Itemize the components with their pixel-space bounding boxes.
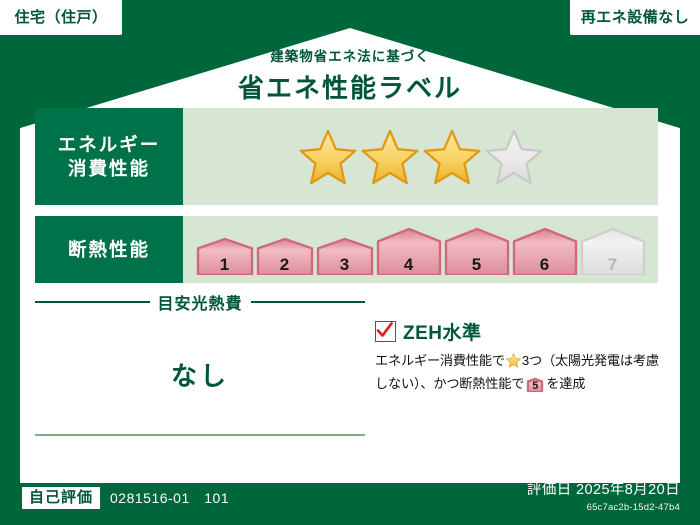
utility-cost-bottom-rule bbox=[35, 434, 365, 436]
heading-rule-right bbox=[251, 301, 366, 303]
zeh-checkbox[interactable] bbox=[375, 321, 396, 342]
zeh-block: ZEH水準 エネルギー消費性能で3つ（太陽光発電は考慮しない）、かつ断熱性能で5… bbox=[375, 318, 660, 395]
insulation-level-badge: 2 bbox=[256, 237, 314, 275]
utility-cost-value: なし bbox=[35, 356, 365, 393]
energy-performance-row: エネルギー 消費性能 bbox=[35, 108, 658, 205]
insulation-level-number: 2 bbox=[256, 256, 314, 273]
insulation-level-number: 1 bbox=[196, 256, 254, 273]
renewable-energy-tag: 再エネ設備なし bbox=[570, 0, 700, 35]
zeh-description: エネルギー消費性能で3つ（太陽光発電は考慮しない）、かつ断熱性能で5を達成 bbox=[375, 351, 660, 395]
insulation-level-badge: 1 bbox=[196, 237, 254, 275]
insulation-level-badge: 5 bbox=[444, 227, 510, 275]
inline-insulation-badge: 5 bbox=[526, 377, 544, 392]
evaluation-hash: 65c7ac2b-15d2-47b4 bbox=[527, 502, 680, 513]
insulation-performance-value: 1234567 bbox=[183, 216, 658, 283]
footer-left: 自己評価 0281516-01 101 bbox=[22, 487, 229, 509]
energy-key-line2: 消費性能 bbox=[68, 157, 150, 181]
insulation-level-number: 3 bbox=[316, 256, 374, 273]
star-rating bbox=[299, 129, 543, 185]
energy-performance-label-key: エネルギー 消費性能 bbox=[35, 108, 183, 205]
title-main: 省エネ性能ラベル bbox=[0, 68, 700, 105]
energy-performance-value bbox=[183, 108, 658, 205]
insulation-level-scale: 1234567 bbox=[196, 216, 646, 283]
insulation-level-number: 7 bbox=[580, 256, 646, 273]
zeh-title-row: ZEH水準 bbox=[375, 318, 660, 345]
certificate-code: 0281516-01 101 bbox=[110, 488, 229, 508]
zeh-desc-part1: エネルギー消費性能で bbox=[375, 353, 505, 368]
insulation-level-badge: 6 bbox=[512, 227, 578, 275]
footer-right: 評価日 2025年8月20日 65c7ac2b-15d2-47b4 bbox=[527, 478, 680, 513]
insulation-level-badge: 3 bbox=[316, 237, 374, 275]
insulation-level-number: 5 bbox=[444, 256, 510, 273]
insulation-level-badge: 7 bbox=[580, 227, 646, 275]
heading-rule-left bbox=[35, 301, 150, 303]
zeh-title: ZEH水準 bbox=[403, 318, 482, 345]
insulation-key-line1: 断熱性能 bbox=[68, 238, 150, 262]
insulation-level-number: 6 bbox=[512, 256, 578, 273]
zeh-desc-part3: を達成 bbox=[546, 376, 585, 391]
utility-cost-heading: 目安光熱費 bbox=[35, 290, 365, 314]
inline-star-icon bbox=[506, 356, 521, 371]
utility-cost-heading-label: 目安光熱費 bbox=[158, 290, 243, 314]
insulation-performance-row: 断熱性能 1234567 bbox=[35, 216, 658, 283]
title-subtitle: 建築物省エネ法に基づく bbox=[0, 45, 700, 65]
insulation-level-badge: 4 bbox=[376, 227, 442, 275]
energy-performance-label: 住宅（住戸） 再エネ設備なし 建築物省エネ法に基づく 省エネ性能ラベル エネルギ… bbox=[0, 0, 700, 525]
building-type-tag: 住宅（住戸） bbox=[0, 0, 122, 35]
insulation-level-number: 4 bbox=[376, 256, 442, 273]
page-title: 建築物省エネ法に基づく 省エネ性能ラベル bbox=[0, 45, 700, 105]
evaluation-date: 評価日 2025年8月20日 bbox=[527, 478, 680, 499]
energy-key-line1: エネルギー bbox=[58, 133, 161, 157]
self-evaluation-tag: 自己評価 bbox=[22, 487, 100, 509]
insulation-performance-label-key: 断熱性能 bbox=[35, 216, 183, 283]
utility-cost-section: 目安光熱費 なし bbox=[35, 290, 365, 393]
